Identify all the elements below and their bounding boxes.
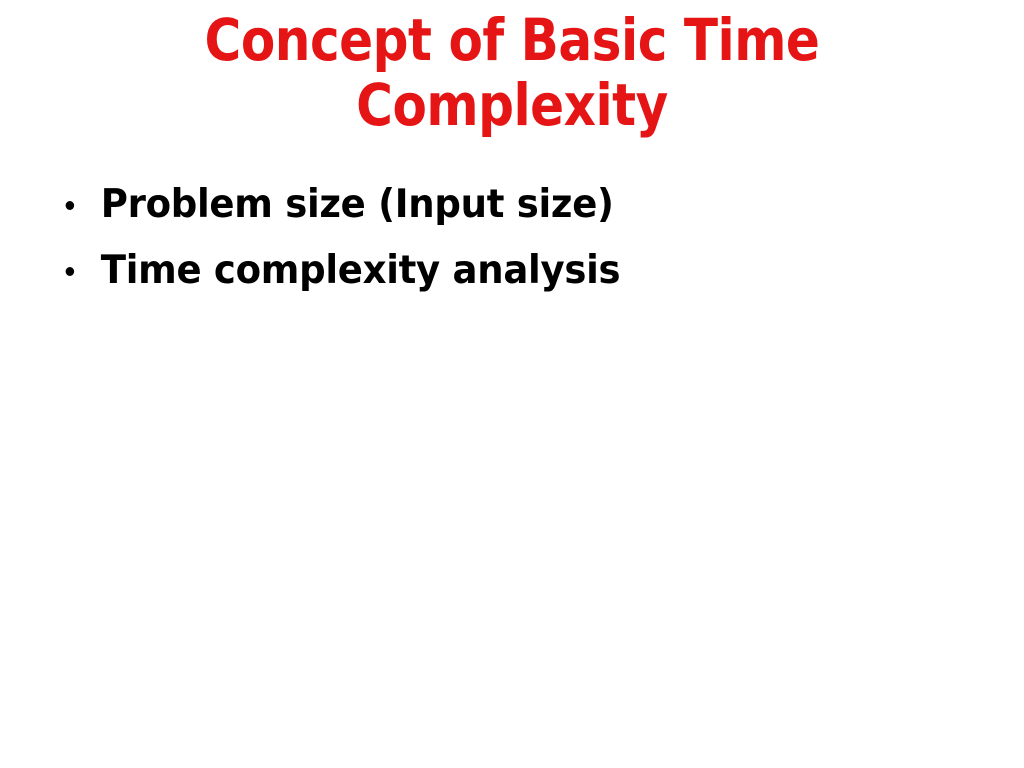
bullet-list: Problem size (Input size) Time complexit… [58, 182, 958, 314]
presentation-slide: Concept of Basic Time Complexity Problem… [0, 0, 1024, 768]
list-item: Problem size (Input size) [58, 182, 913, 228]
list-item-label: Time complexity analysis [101, 248, 621, 293]
bullet-dot-icon [66, 267, 75, 276]
bullet-dot-icon [66, 201, 75, 210]
list-item: Time complexity analysis [58, 248, 913, 294]
slide-title: Concept of Basic Time Complexity [78, 8, 946, 138]
list-item-label: Problem size (Input size) [101, 182, 614, 227]
